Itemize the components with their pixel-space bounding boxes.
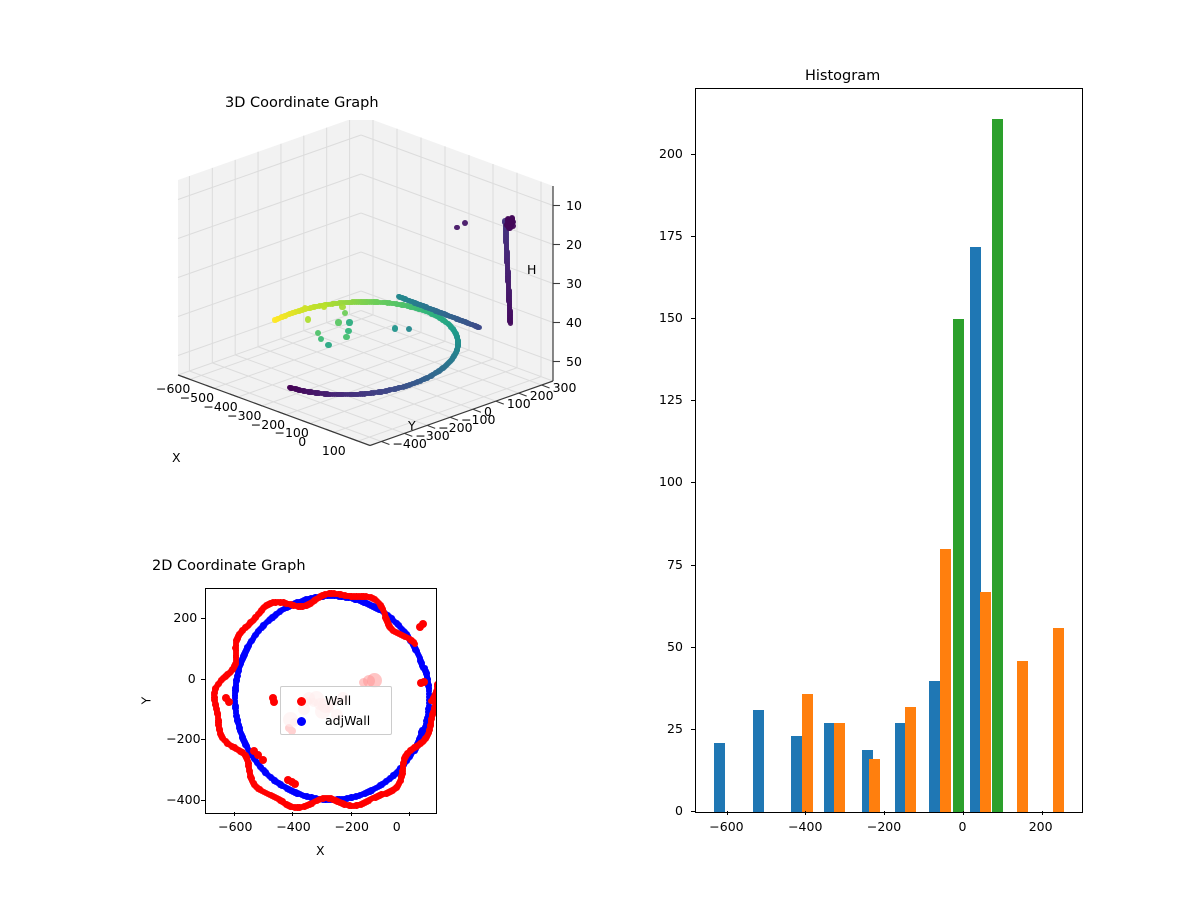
tickmark-y-2d (201, 739, 205, 740)
panel-histogram: Histogram 0255075100125150175200−600−400… (620, 60, 1180, 860)
tickmark-x-hist (805, 811, 806, 815)
axis-label-x-3d: X (172, 450, 181, 465)
legend-2d: Wall adjWall (280, 686, 392, 735)
axes-3d-canvas: −600−500−400−300−200−1000100−400−300−200… (60, 120, 580, 540)
tickmark-y-hist (691, 482, 695, 483)
tickmark-x-hist (963, 811, 964, 815)
panel-3d-coordinate-graph: 3D Coordinate Graph −600−500−400−300−200… (60, 80, 580, 540)
tickmark-y-hist (691, 811, 695, 812)
tickmark-x-hist (1042, 811, 1043, 815)
axes-2d-ticks: −600−400−20002000−200−400 (60, 555, 480, 865)
tickmark-x-2d (234, 812, 235, 816)
tickmark-y-hist (691, 236, 695, 237)
legend-marker-adjwall (297, 717, 306, 726)
legend-marker-wall (297, 697, 306, 706)
tickmark-x-hist (727, 811, 728, 815)
axis-label-y-3d: Y (408, 418, 416, 433)
axes-3d-tick-labels: −600−500−400−300−200−1000100−400−300−200… (60, 120, 580, 540)
legend-label-adjwall: adjWall (325, 713, 370, 728)
tickmark-x-2d (409, 812, 410, 816)
tickmark-y-2d (201, 679, 205, 680)
tickmark-y-hist (691, 565, 695, 566)
tickmark-y-hist (691, 154, 695, 155)
tickmark-y-hist (691, 318, 695, 319)
axes-histogram-ticks: 0255075100125150175200−600−400−2000200 (620, 60, 1180, 860)
axis-label-y-2d: Y (138, 697, 153, 705)
tickmark-x-2d (351, 812, 352, 816)
panel-2d-coordinate-graph: 2D Coordinate Graph Wall adjWall −600−40… (60, 555, 480, 865)
tickmark-y-hist (691, 400, 695, 401)
tickmark-y-2d (201, 618, 205, 619)
tickmark-y-hist (691, 647, 695, 648)
tickmark-y-hist (691, 729, 695, 730)
panel-3d-title: 3D Coordinate Graph (225, 95, 379, 111)
tickmark-y-2d (201, 800, 205, 801)
tickmark-x-hist (884, 811, 885, 815)
matplotlib-figure: 3D Coordinate Graph −600−500−400−300−200… (0, 0, 1200, 900)
tickmark-x-2d (292, 812, 293, 816)
axis-label-z-3d: H (527, 262, 536, 277)
legend-label-wall: Wall (325, 693, 351, 708)
axis-label-x-2d: X (316, 843, 325, 858)
